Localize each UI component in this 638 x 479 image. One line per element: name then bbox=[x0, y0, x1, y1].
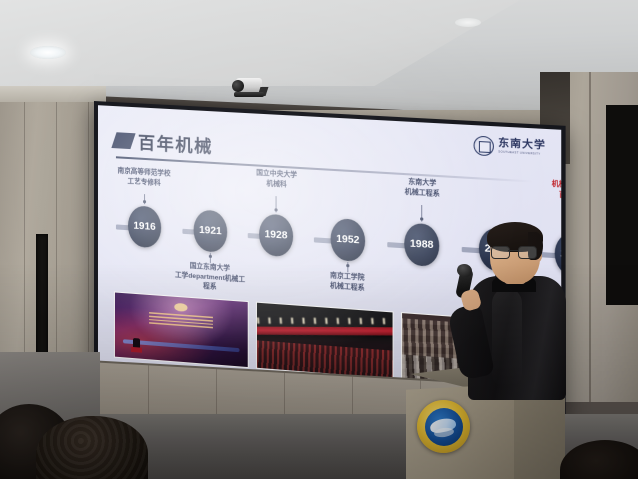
timeline-node-1916: 1916 bbox=[128, 205, 161, 248]
slide-title-group: 百年机械 bbox=[114, 132, 213, 156]
podium-emblem-icon bbox=[417, 400, 470, 453]
timeline-label-1928: 国立中央大学 机械科 bbox=[238, 167, 314, 191]
timeline-label-1921: 国立东南大学 工学department机械工程系 bbox=[172, 260, 247, 294]
speaker-person bbox=[466, 224, 570, 400]
ceiling-camera-icon bbox=[232, 78, 266, 100]
timeline-node-1988: 1988 bbox=[404, 223, 439, 268]
photo-ceremony-stage bbox=[114, 291, 248, 368]
university-name-en: SOUTHEAST UNIVERSITY bbox=[498, 151, 546, 156]
university-logo: 东南大学 SOUTHEAST UNIVERSITY bbox=[474, 136, 546, 160]
right-wall-seam bbox=[589, 72, 591, 402]
title-accent-mark-icon bbox=[111, 132, 135, 149]
timeline-label-1916: 南京高等师范学校 工艺专修科 bbox=[107, 166, 181, 190]
timeline-node-1952: 1952 bbox=[331, 218, 366, 262]
photo-auditorium-balcony bbox=[256, 302, 394, 380]
slide-title: 百年机械 bbox=[138, 134, 213, 155]
left-wall-header-trim bbox=[0, 86, 106, 102]
left-wall-paneling bbox=[0, 86, 106, 386]
lecture-hall-scene: 百年机械 东南大学 SOUTHEAST UNIVERSITY bbox=[0, 0, 638, 479]
right-wall-dark-panel bbox=[606, 105, 638, 305]
timeline-label-1952: 南京工学院 机械工程系 bbox=[309, 270, 387, 295]
ceiling-light-secondary-icon bbox=[455, 18, 481, 27]
timeline-node-1921: 1921 bbox=[194, 209, 228, 253]
glasses-icon bbox=[491, 246, 537, 257]
ceiling-light-icon bbox=[30, 46, 66, 59]
timeline-label-1988: 东南大学 机械工程系 bbox=[383, 176, 462, 200]
timeline-node-1928: 1928 bbox=[259, 213, 293, 257]
university-seal-icon bbox=[474, 136, 494, 157]
timeline-label-2016: 机械工程学院 百年院庆 bbox=[533, 178, 561, 203]
